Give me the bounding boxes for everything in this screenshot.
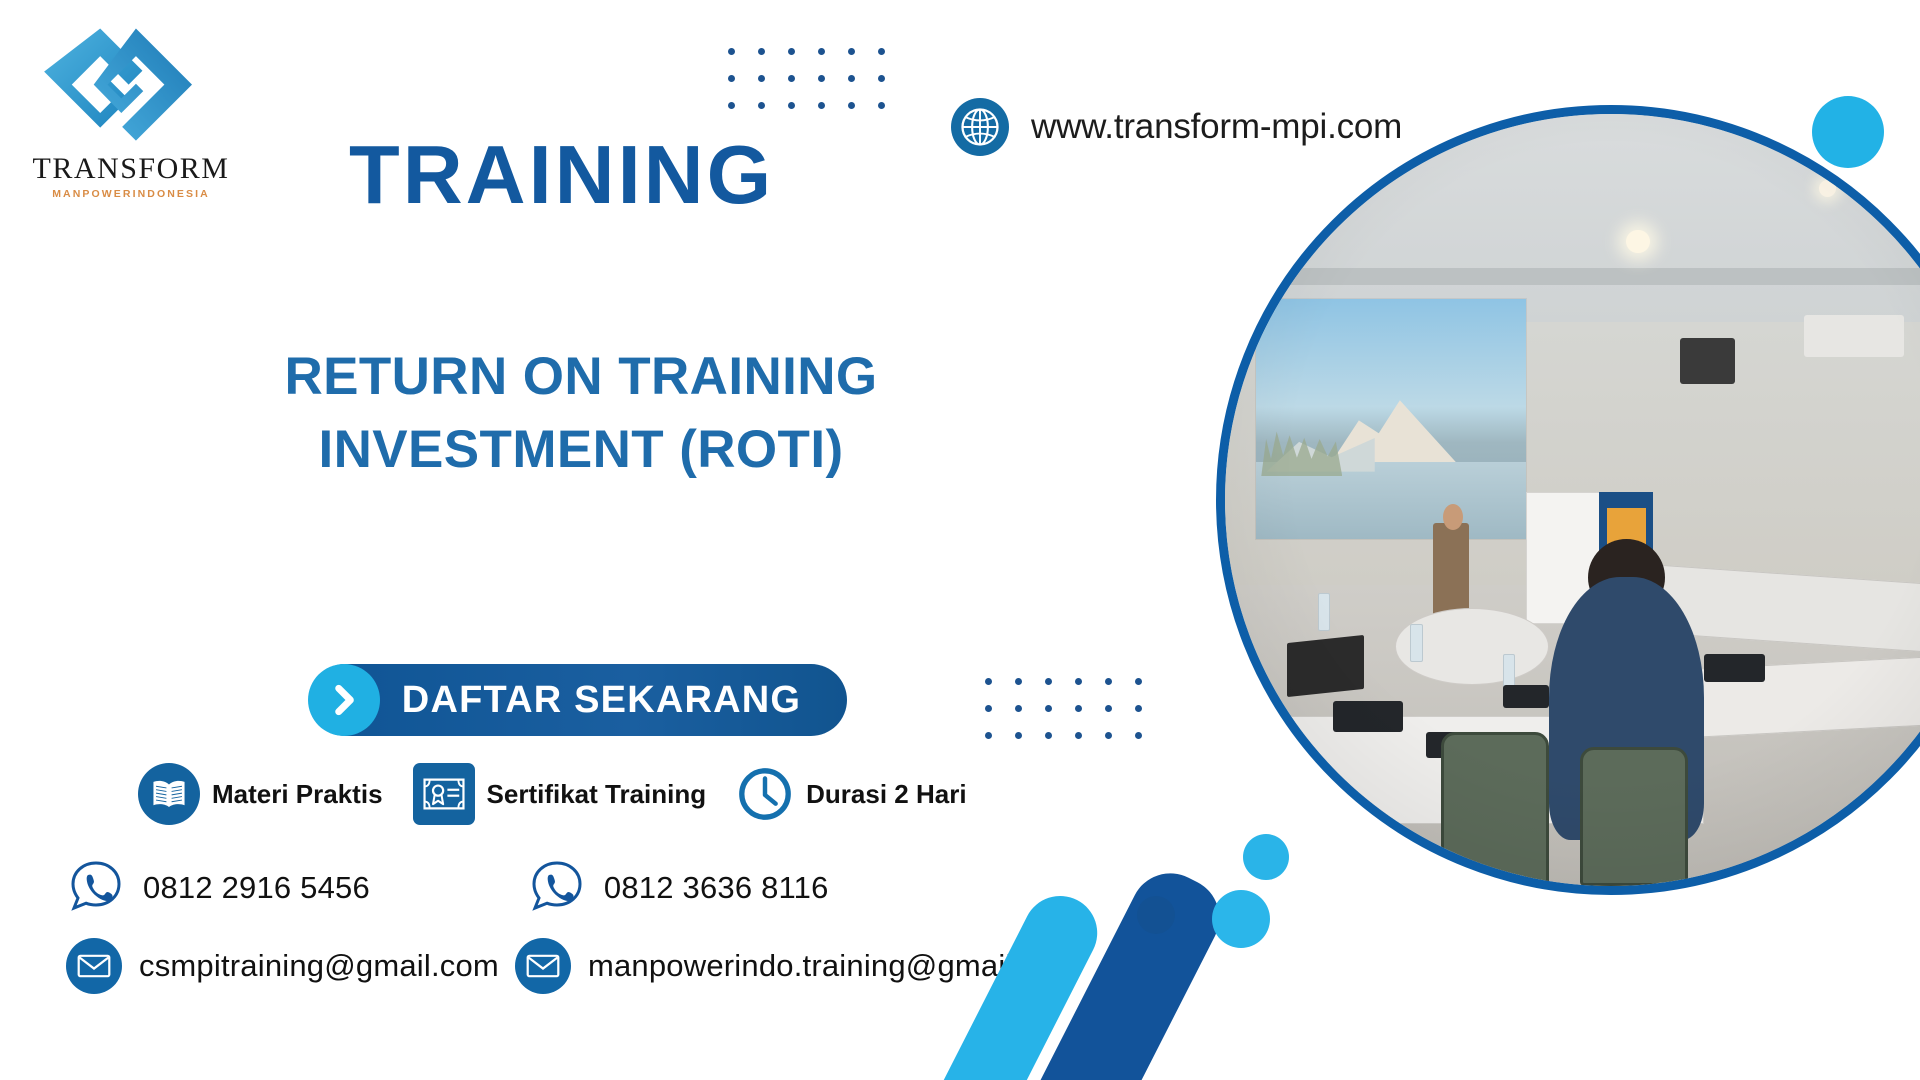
clock-icon bbox=[734, 763, 796, 825]
whatsapp-icon bbox=[527, 858, 587, 918]
interlocking-diamonds-logo-icon bbox=[38, 22, 203, 152]
dot-grid-middle bbox=[985, 678, 1142, 739]
logo-wordmark: TRANSFORM bbox=[26, 154, 236, 184]
feature-materi-praktis: Materi Praktis bbox=[138, 763, 383, 825]
email-contact-1[interactable]: csmpitraining@gmail.com bbox=[66, 938, 499, 994]
open-book-icon bbox=[138, 763, 200, 825]
feature-label-materi-praktis: Materi Praktis bbox=[212, 779, 383, 810]
feature-badges: Materi Praktis Sertifikat Training Duras… bbox=[138, 763, 967, 825]
envelope-icon bbox=[515, 938, 571, 994]
training-photo bbox=[1216, 105, 1920, 895]
decor-dot-navy bbox=[1137, 896, 1175, 934]
phone-contact-2[interactable]: 0812 3636 8116 bbox=[527, 858, 829, 918]
feature-durasi: Durasi 2 Hari bbox=[734, 763, 966, 825]
logo-tagline: MANPOWERINDONESIA bbox=[26, 188, 236, 200]
feature-label-sertifikat-training: Sertifikat Training bbox=[487, 779, 707, 810]
feature-label-durasi: Durasi 2 Hari bbox=[806, 779, 966, 810]
phone-number-1[interactable]: 0812 2916 5456 bbox=[143, 870, 370, 906]
envelope-icon bbox=[66, 938, 122, 994]
page-title-eyebrow: TRAINING bbox=[349, 133, 774, 216]
training-photo-scene bbox=[1225, 114, 1920, 886]
globe-icon bbox=[951, 98, 1009, 156]
page-title: RETURN ON TRAINING INVESTMENT (ROTI) bbox=[186, 340, 976, 486]
phone-number-2[interactable]: 0812 3636 8116 bbox=[604, 870, 829, 906]
phone-contacts: 0812 2916 5456 0812 3636 8116 bbox=[66, 858, 829, 918]
email-contacts: csmpitraining@gmail.com manpowerindo.tra… bbox=[66, 938, 1081, 994]
dot-grid-top bbox=[728, 48, 885, 109]
register-now-label: DAFTAR SEKARANG bbox=[380, 679, 847, 722]
certificate-icon bbox=[413, 763, 475, 825]
feature-sertifikat-training: Sertifikat Training bbox=[413, 763, 707, 825]
whatsapp-icon bbox=[66, 858, 126, 918]
register-now-button[interactable]: DAFTAR SEKARANG bbox=[309, 664, 847, 736]
brand-logo: TRANSFORM MANPOWERINDONESIA bbox=[26, 22, 236, 200]
chevron-right-icon bbox=[308, 664, 380, 736]
phone-contact-1[interactable]: 0812 2916 5456 bbox=[66, 858, 370, 918]
decor-dot-cyan-lower bbox=[1212, 890, 1270, 948]
email-address-1[interactable]: csmpitraining@gmail.com bbox=[139, 948, 499, 984]
